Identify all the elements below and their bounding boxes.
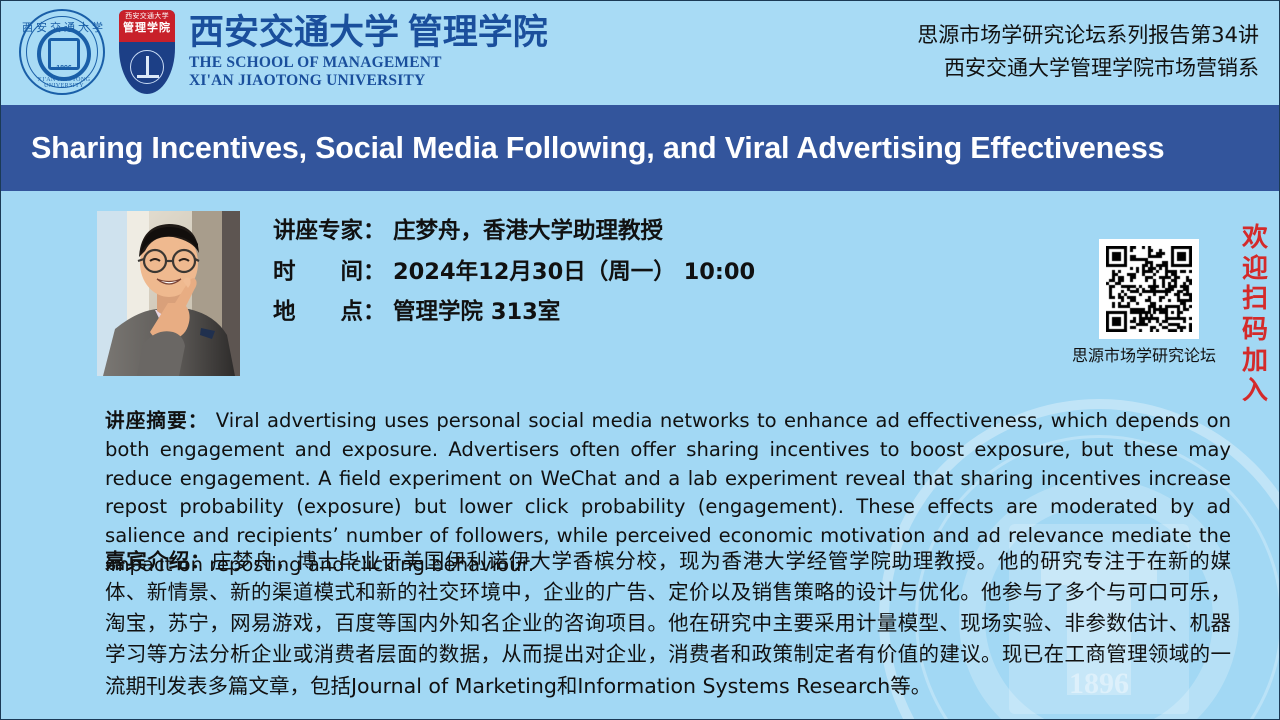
time-label: 时 间： <box>273 261 393 284</box>
time-value: 2024年12月30日（周一） 10:00 <box>393 261 755 284</box>
shield-small-text: 西安交通大学 <box>125 13 169 20</box>
seminar-poster: 1896 XI'AN JIAOTONG UNIVERSITY 西安交通大学 18… <box>0 0 1280 720</box>
qr-code-icon[interactable] <box>1099 239 1199 339</box>
brand-lockup: 西安交通大学 管理学院 THE SCHOOL OF MANAGEMENT XI'… <box>189 15 548 89</box>
seal-year: 1896 <box>21 65 107 72</box>
bio-text: 庄梦舟，博士毕业于美国伊利诺伊大学香槟分校，现为香港大学经管学院助理教授。他的研… <box>105 549 1231 698</box>
brand-cn: 西安交通大学 管理学院 <box>189 15 548 50</box>
scan-char: 欢 <box>1240 223 1270 254</box>
seal-bottom-text: XI'AN JIAOTONG UNIVERSITY <box>21 77 107 89</box>
department-label: 西安交通大学管理学院市场营销系 <box>917 52 1259 85</box>
qr-code-wrapper[interactable] <box>1099 239 1199 339</box>
poster-header: 西安交通大学 1896 XI'AN JIAOTONG UNIVERSITY 西安… <box>1 1 1280 105</box>
time-row: 时 间： 2024年12月30日（周一） 10:00 <box>273 261 755 284</box>
scan-char: 迎 <box>1240 254 1270 285</box>
scan-char: 加 <box>1240 346 1270 377</box>
brand-en-line1: THE SCHOOL OF MANAGEMENT <box>189 54 548 71</box>
qr-caption: 思源市场学研究论坛 <box>1064 342 1224 366</box>
venue-value: 管理学院 313室 <box>393 301 560 324</box>
series-label: 思源市场学研究论坛系列报告第34讲 <box>917 19 1259 52</box>
speaker-value: 庄梦舟，香港大学助理教授 <box>393 220 663 243</box>
shield-big-text: 管理学院 <box>119 22 175 35</box>
scan-char: 入 <box>1240 376 1270 407</box>
speaker-info: 讲座专家： 庄梦舟，香港大学助理教授 时 间： 2024年12月30日（周一） … <box>273 220 755 342</box>
school-shield-icon: 西安交通大学 管理学院 <box>119 10 175 94</box>
logo-row: 西安交通大学 1896 XI'AN JIAOTONG UNIVERSITY 西安… <box>19 9 548 95</box>
speaker-photo <box>97 211 240 376</box>
scan-char: 码 <box>1240 315 1270 346</box>
scan-to-join-text: 欢迎扫码加入 <box>1240 223 1270 407</box>
scan-char: 扫 <box>1240 284 1270 315</box>
university-seal-icon: 西安交通大学 1896 XI'AN JIAOTONG UNIVERSITY <box>19 9 105 95</box>
bio-paragraph: 嘉宾介绍：庄梦舟，博士毕业于美国伊利诺伊大学香槟分校，现为香港大学经管学院助理教… <box>105 546 1231 702</box>
page-title: Sharing Incentives, Social Media Followi… <box>1 131 1186 166</box>
abstract-heading: 讲座摘要： <box>105 409 208 432</box>
title-band: Sharing Incentives, Social Media Followi… <box>1 105 1280 191</box>
brand-en-line2: XI'AN JIAOTONG UNIVERSITY <box>189 72 548 89</box>
shield-red-bar: 西安交通大学 管理学院 <box>119 10 175 42</box>
speaker-row: 讲座专家： 庄梦舟，香港大学助理教授 <box>273 220 755 243</box>
bio-heading: 嘉宾介绍： <box>105 549 211 573</box>
venue-label: 地 点： <box>273 301 393 324</box>
venue-row: 地 点： 管理学院 313室 <box>273 301 755 324</box>
header-right-text: 思源市场学研究论坛系列报告第34讲 西安交通大学管理学院市场营销系 <box>917 19 1259 84</box>
speaker-label: 讲座专家： <box>273 220 393 243</box>
